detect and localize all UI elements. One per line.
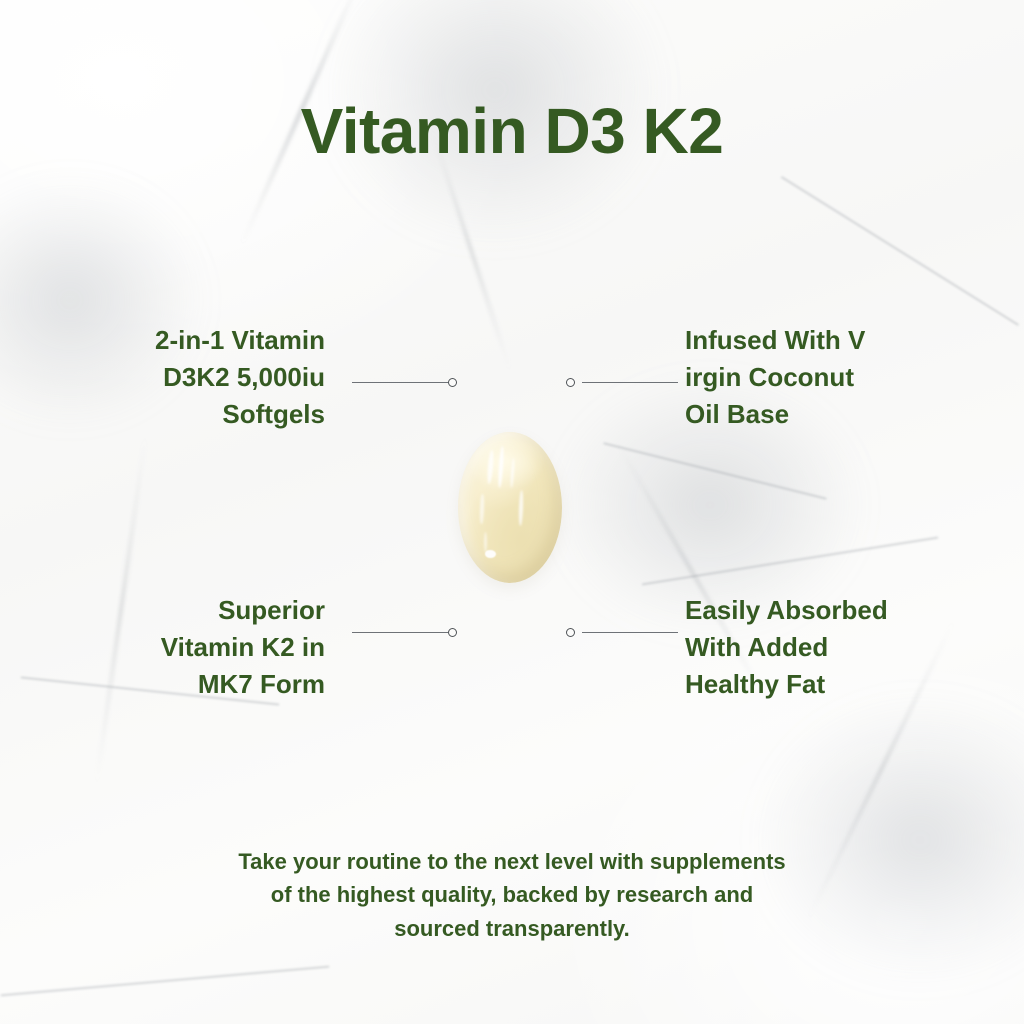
- capsule-highlight-streak: [484, 532, 487, 552]
- feature-bottom-right-line-2: With Added: [685, 629, 915, 666]
- callout-line-top-right: [566, 377, 678, 389]
- callout-line-bottom-right: [566, 627, 678, 639]
- feature-top-left-line-3: Softgels: [95, 396, 325, 433]
- feature-top-left: 2-in-1 Vitamin D3K2 5,000iu Softgels: [95, 322, 325, 433]
- feature-top-right-line-2: irgin Coconut: [685, 359, 915, 396]
- callout-rule: [352, 382, 448, 383]
- callout-line-bottom-left: [352, 627, 464, 639]
- page-title: Vitamin D3 K2: [0, 98, 1024, 165]
- callout-rule: [582, 632, 678, 633]
- feature-bottom-right: Easily Absorbed With Added Healthy Fat: [685, 592, 915, 703]
- product-infographic: Vitamin D3 K2 2-in-1 Vitamin D3K2 5,000i…: [0, 0, 1024, 1024]
- callout-line-top-left: [352, 377, 464, 389]
- capsule-dome-highlight: [470, 440, 546, 492]
- callout-node-circle-icon: [448, 628, 457, 637]
- callout-node-circle-icon: [566, 378, 575, 387]
- feature-bottom-left-line-2: Vitamin K2 in: [95, 629, 325, 666]
- feature-bottom-left: Superior Vitamin K2 in MK7 Form: [95, 592, 325, 703]
- capsule-specular-speck: [485, 550, 496, 558]
- tagline: Take your routine to the next level with…: [182, 845, 842, 945]
- callout-node-circle-icon: [566, 628, 575, 637]
- callout-node-circle-icon: [448, 378, 457, 387]
- feature-top-left-line-2: D3K2 5,000iu: [95, 359, 325, 396]
- feature-bottom-left-line-3: MK7 Form: [95, 666, 325, 703]
- feature-top-right: Infused With V irgin Coconut Oil Base: [685, 322, 915, 433]
- feature-bottom-right-line-3: Healthy Fat: [685, 666, 915, 703]
- callout-rule: [352, 632, 448, 633]
- feature-top-right-line-1: Infused With V: [685, 322, 915, 359]
- capsule-highlight-streak: [479, 494, 484, 524]
- feature-bottom-left-line-1: Superior: [95, 592, 325, 629]
- capsule-highlight-streak: [518, 490, 523, 526]
- feature-bottom-right-line-1: Easily Absorbed: [685, 592, 915, 629]
- tagline-line-2: of the highest quality, backed by resear…: [182, 878, 842, 911]
- softgel-capsule-image: [458, 432, 562, 583]
- tagline-line-1: Take your routine to the next level with…: [182, 845, 842, 878]
- callout-rule: [582, 382, 678, 383]
- tagline-line-3: sourced transparently.: [182, 912, 842, 945]
- feature-top-right-line-3: Oil Base: [685, 396, 915, 433]
- feature-top-left-line-1: 2-in-1 Vitamin: [95, 322, 325, 359]
